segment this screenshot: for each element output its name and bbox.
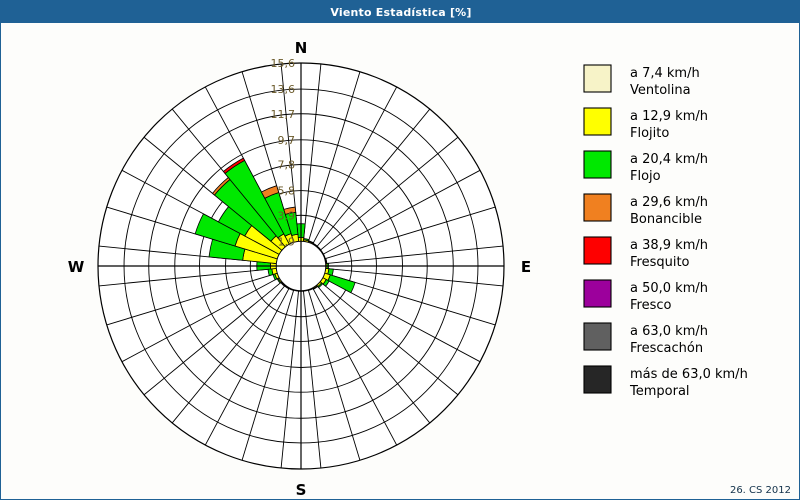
legend-speed-label: a 38,9 km/h [630,238,708,253]
legend-speed-label: a 7,4 km/h [630,66,700,81]
legend-swatch [584,65,611,92]
legend-name-label: Fresco [630,298,672,313]
legend-name-label: Flojo [630,169,661,184]
legend-name-label: Temporal [629,384,690,399]
radial-tick-label: 9,7 [278,134,296,147]
legend-speed-label: a 12,9 km/h [630,109,708,124]
wind-rose-window: Viento Estadística [%] 1,93,95,87,89,711… [0,0,800,500]
chart-canvas: 1,93,95,87,89,711,713,615,6 NESW a 7,4 k… [1,23,799,499]
legend-swatch [584,366,611,393]
legend-name-label: Bonancible [630,212,702,227]
compass-label-north: N [295,39,308,57]
radial-tick-label: 1,9 [278,235,296,248]
legend-speed-label: más de 63,0 km/h [630,367,748,382]
footer-credit: 26. CS 2012 [730,485,791,496]
compass-label-west: W [68,258,85,276]
legend-name-label: Frescachón [630,341,703,356]
wind-rose-sector [268,269,273,276]
legend-swatch [584,280,611,307]
legend-name-label: Flojito [630,126,669,141]
radial-tick-label: 11,7 [271,108,296,121]
compass-label-south: S [296,481,307,499]
legend-swatch [584,151,611,178]
legend-speed-label: a 63,0 km/h [630,324,708,339]
legend-speed-label: a 20,4 km/h [630,152,708,167]
radial-tick-label: 3,9 [278,209,296,222]
radial-tick-label: 13,6 [271,83,296,96]
window-title: Viento Estadística [%] [330,6,471,19]
legend-swatch [584,108,611,135]
radial-tick-label: 5,8 [278,185,296,198]
legend-speed-label: a 29,6 km/h [630,195,708,210]
legend-swatch [584,237,611,264]
compass-label-east: E [521,258,531,276]
legend-speed-label: a 50,0 km/h [630,281,708,296]
legend-name-label: Fresquito [630,255,690,270]
legend: a 7,4 km/hVentolinaa 12,9 km/hFlojitoa 2… [584,65,748,399]
radial-tick-label: 7,8 [278,159,296,172]
legend-name-label: Ventolina [630,83,691,98]
legend-swatch [584,323,611,350]
legend-swatch [584,194,611,221]
radial-tick-label: 15,6 [271,57,296,70]
wind-rose-svg: 1,93,95,87,89,711,713,615,6 NESW a 7,4 k… [1,23,799,499]
window-titlebar: Viento Estadística [%] [1,1,800,23]
